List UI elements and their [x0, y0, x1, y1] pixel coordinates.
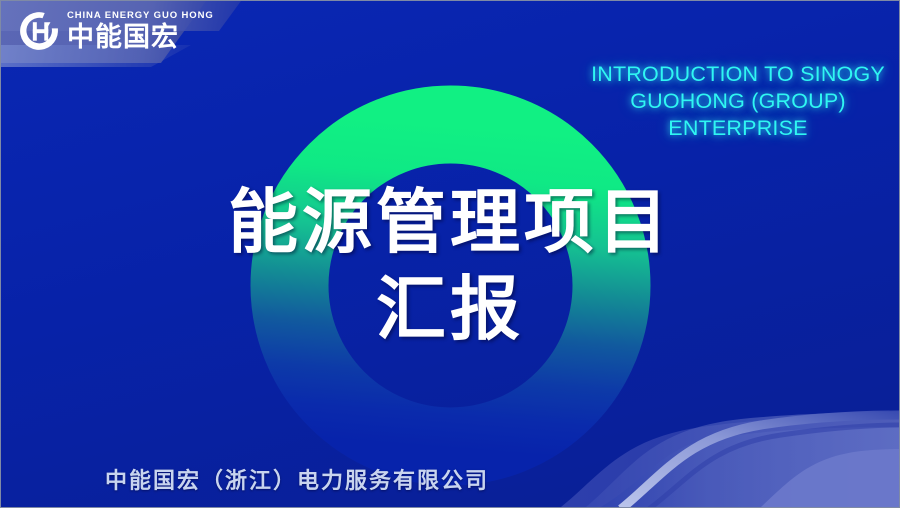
english-heading-line-3: ENTERPRISE [573, 115, 900, 142]
company-logo: CHINA ENERGY GUO HONG 中能国宏 [17, 9, 214, 53]
logo-english-name: CHINA ENERGY GUO HONG [67, 11, 214, 21]
circle-g-h-icon [17, 9, 61, 53]
english-heading: INTRODUCTION TO SINOGY GUOHONG (GROUP) E… [573, 61, 900, 142]
english-heading-line-1: INTRODUCTION TO SINOGY [573, 61, 900, 88]
footer-company-name: 中能国宏（浙江）电力服务有限公司 [105, 463, 489, 495]
english-heading-line-2: GUOHONG (GROUP) [573, 88, 900, 115]
slide-title: 能源管理项目 汇报 [1, 179, 899, 353]
presentation-slide: CHINA ENERGY GUO HONG 中能国宏 INTRODUCTION … [0, 0, 900, 508]
slide-title-line-2: 汇报 [1, 265, 899, 353]
logo-wordmark: CHINA ENERGY GUO HONG 中能国宏 [67, 11, 214, 51]
slide-title-line-1: 能源管理项目 [1, 179, 899, 265]
logo-chinese-name: 中能国宏 [67, 24, 214, 51]
